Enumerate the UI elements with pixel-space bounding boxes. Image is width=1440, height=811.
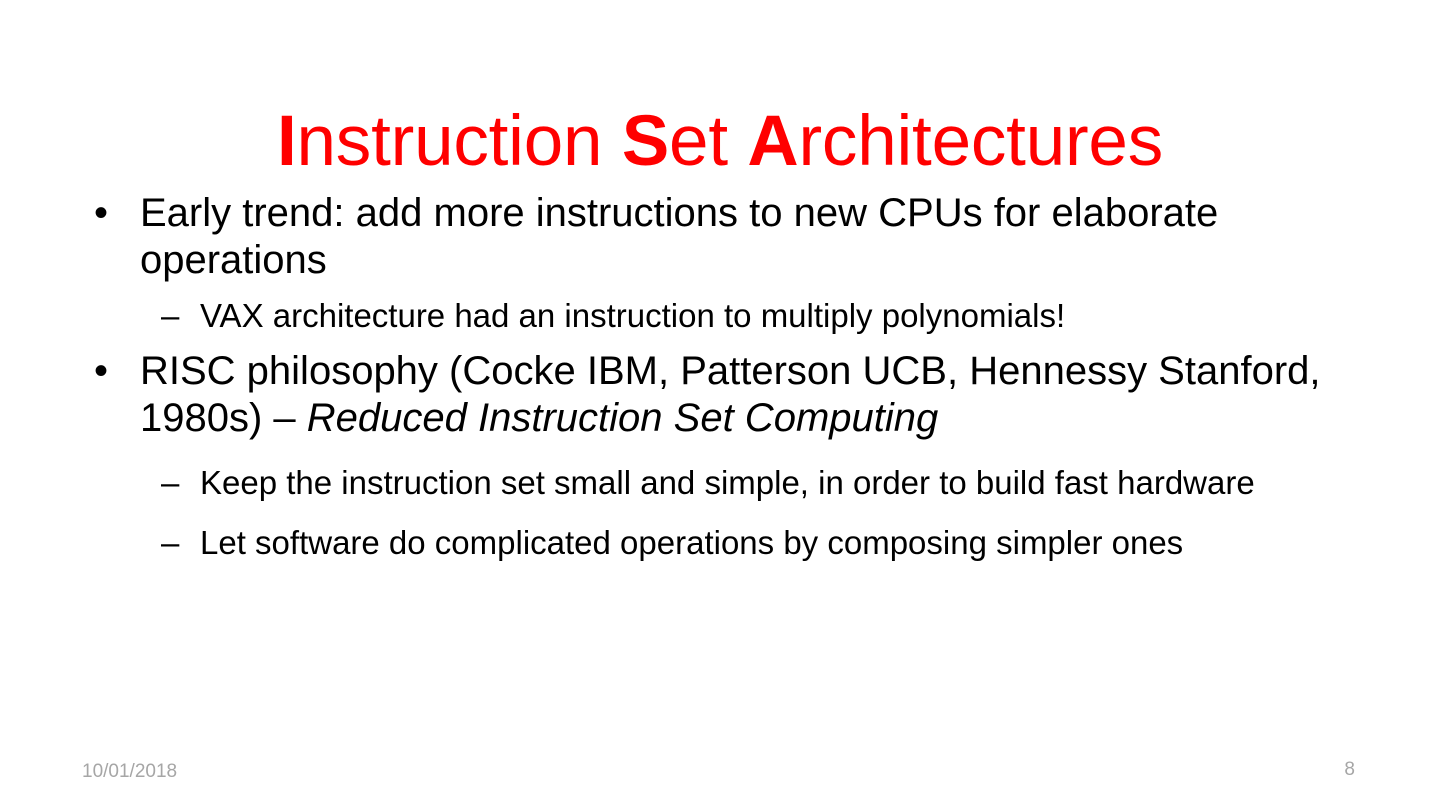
title-rest-instruction: nstruction [297, 102, 622, 181]
bullet-marker-dash: – [161, 297, 193, 336]
bullet-item-keep-small: – Keep the instruction set small and sim… [76, 464, 1386, 503]
bullet-text: RISC philosophy (Cocke IBM, Patterson UC… [140, 349, 1321, 440]
page-title: Instruction Set Architectures [72, 104, 1368, 179]
title-rest-architectures: rchitectures [798, 102, 1163, 181]
bullet-text: Keep the instruction set small and simpl… [200, 464, 1255, 501]
bullet-marker-dot: • [94, 190, 124, 237]
bullet-text: Early trend: add more instructions to ne… [140, 191, 1218, 282]
bullet-item-risc-philosophy: • RISC philosophy (Cocke IBM, Patterson … [76, 348, 1386, 442]
slide-body: • Early trend: add more instructions to … [76, 190, 1386, 567]
bullet-text-italic-emphasis: Reduced Instruction Set Computing [307, 396, 938, 440]
title-cap-a: A [747, 102, 798, 181]
bullet-marker-dash: – [161, 524, 193, 563]
bullet-text: VAX architecture had an instruction to m… [200, 297, 1065, 334]
slide-canvas: Instruction Set Architectures • Early tr… [0, 0, 1440, 811]
bullet-item-early-trend: • Early trend: add more instructions to … [76, 190, 1386, 284]
title-rest-set: et [669, 102, 747, 181]
footer-page-number: 8 [1344, 760, 1355, 781]
footer-date: 10/01/2018 [82, 762, 177, 783]
title-cap-s: S [622, 102, 669, 181]
bullet-item-let-software: – Let software do complicated operations… [76, 524, 1386, 563]
bullet-marker-dot: • [94, 348, 124, 395]
bullet-marker-dash: – [161, 464, 193, 503]
title-cap-i: I [277, 102, 297, 181]
bullet-text: Let software do complicated operations b… [200, 524, 1183, 561]
bullet-item-vax: – VAX architecture had an instruction to… [76, 297, 1386, 336]
